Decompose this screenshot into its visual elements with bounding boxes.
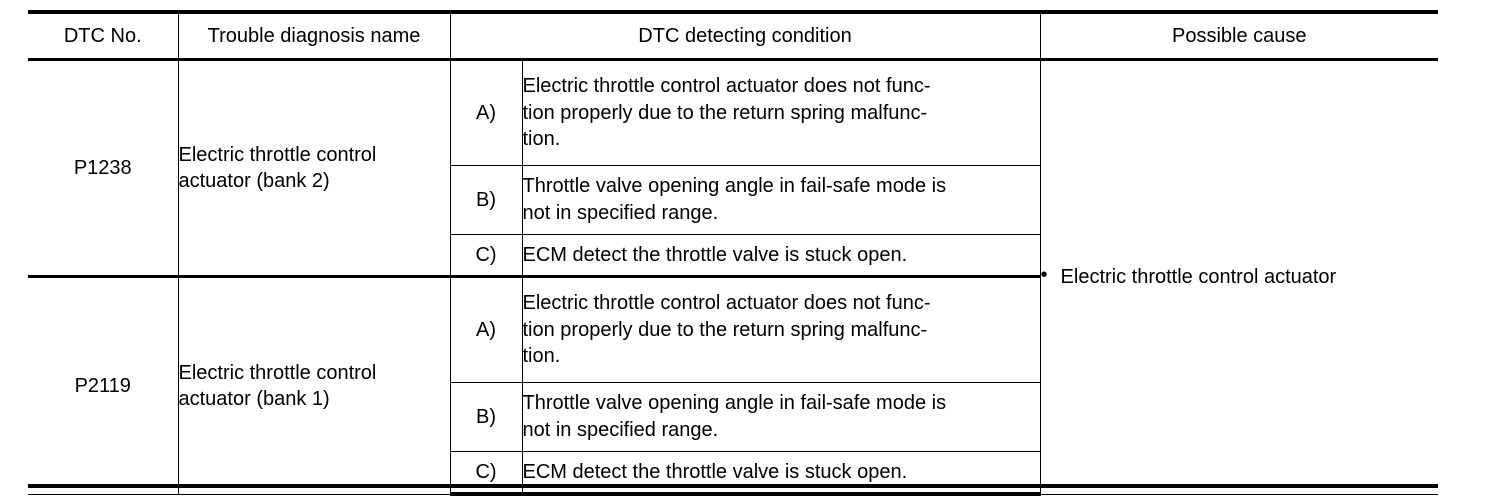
column-header-possible-cause: Possible cause — [1040, 12, 1438, 60]
header-row: DTC No. Trouble diagnosis name DTC detec… — [28, 12, 1438, 60]
cell-condition-text: Throttle valve opening angle in fail-saf… — [522, 166, 1040, 235]
condition-line: not in specified range. — [523, 417, 1040, 444]
cell-dtc-no: P2119 — [28, 277, 178, 495]
cell-trouble-diagnosis-name: Electric throttle control actuator (bank… — [178, 60, 450, 277]
table-header: DTC No. Trouble diagnosis name DTC detec… — [28, 12, 1438, 60]
cell-condition-index: C) — [450, 235, 522, 277]
condition-line: tion. — [523, 126, 1040, 153]
condition-line: Electric throttle control actuator does … — [523, 290, 1040, 317]
dtc-diagnosis-table: DTC No. Trouble diagnosis name DTC detec… — [28, 10, 1438, 496]
condition-line: ECM detect the throttle valve is stuck o… — [523, 242, 1040, 269]
cell-condition-text: Throttle valve opening angle in fail-saf… — [522, 383, 1040, 452]
cell-condition-index: B) — [450, 383, 522, 452]
cell-trouble-diagnosis-name: Electric throttle control actuator (bank… — [178, 277, 450, 495]
cell-condition-text: Electric throttle control actuator does … — [522, 60, 1040, 166]
possible-cause-text: Electric throttle control actuator — [1061, 264, 1438, 290]
bullet-icon: • — [1041, 263, 1048, 287]
column-header-trouble-diagnosis-name: Trouble diagnosis name — [178, 12, 450, 60]
cell-condition-text: ECM detect the throttle valve is stuck o… — [522, 235, 1040, 277]
cell-condition-text: Electric throttle control actuator does … — [522, 277, 1040, 383]
cell-condition-index: A) — [450, 277, 522, 383]
cell-possible-cause: • Electric throttle control actuator — [1040, 60, 1438, 495]
table-bottom-rule — [28, 484, 1438, 488]
condition-line: tion properly due to the return spring m… — [523, 317, 1040, 344]
condition-line: tion. — [523, 343, 1040, 370]
condition-line: ECM detect the throttle valve is stuck o… — [523, 459, 1040, 486]
condition-line: Throttle valve opening angle in fail-saf… — [523, 390, 1040, 417]
cell-condition-index: B) — [450, 166, 522, 235]
cell-dtc-no: P1238 — [28, 60, 178, 277]
condition-line: tion properly due to the return spring m… — [523, 100, 1040, 127]
condition-line: Electric throttle control actuator does … — [523, 73, 1040, 100]
document-page: DTC No. Trouble diagnosis name DTC detec… — [0, 0, 1504, 498]
table-body: P1238 Electric throttle control actuator… — [28, 60, 1438, 495]
possible-cause-bullet-item: • Electric throttle control actuator — [1041, 264, 1439, 290]
column-header-dtc-detecting-condition: DTC detecting condition — [450, 12, 1040, 60]
condition-line: not in specified range. — [523, 200, 1040, 227]
table-row: P1238 Electric throttle control actuator… — [28, 60, 1438, 166]
cell-condition-index: A) — [450, 60, 522, 166]
column-header-dtc-no: DTC No. — [28, 12, 178, 60]
condition-line: Throttle valve opening angle in fail-saf… — [523, 173, 1040, 200]
